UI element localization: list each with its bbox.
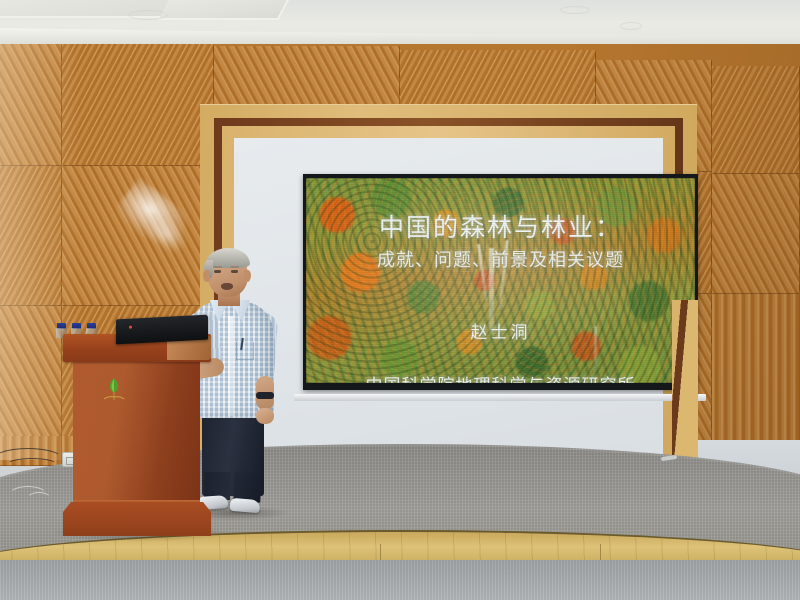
presenter-hand-right bbox=[256, 408, 274, 424]
floor-cable bbox=[26, 492, 52, 508]
presenter-eyebrow-left bbox=[213, 266, 222, 268]
wood-wall-panel bbox=[712, 66, 800, 174]
sprout-leaf-logo-icon bbox=[99, 376, 129, 402]
ceiling-vent-icon bbox=[560, 6, 590, 14]
shirt-placket bbox=[228, 316, 233, 416]
presenter-eye-left bbox=[214, 270, 221, 273]
presenter-ear-right bbox=[244, 270, 251, 282]
lectern[interactable] bbox=[63, 334, 211, 536]
wood-wall-panel bbox=[62, 44, 214, 166]
ceiling-light-icon bbox=[128, 10, 168, 20]
wrist-watch bbox=[256, 392, 274, 399]
shirt-pocket bbox=[236, 342, 254, 360]
ceiling-tile bbox=[158, 0, 290, 20]
projection-screen[interactable]: 中国的森林与林业： 成就、问题、前景及相关议题 赵士洞 中国科学院地理科学与资源… bbox=[303, 174, 698, 390]
presenter-ear-left bbox=[203, 270, 210, 282]
wood-wall-panel bbox=[712, 174, 800, 294]
projection-screen-surface: 中国的森林与林业： 成就、问题、前景及相关议题 赵士洞 中国科学院地理科学与资源… bbox=[234, 138, 663, 474]
floor-cable bbox=[6, 458, 58, 472]
screen-frame-dark-inlay: 中国的森林与林业： 成就、问题、前景及相关议题 赵士洞 中国科学院地理科学与资源… bbox=[214, 118, 683, 474]
screen-frame-inner-trim: 中国的森林与林业： 成就、问题、前景及相关议题 赵士洞 中国科学院地理科学与资源… bbox=[222, 126, 675, 474]
conference-hall-scene: 中国的森林与林业： 成就、问题、前景及相关议题 赵士洞 中国科学院地理科学与资源… bbox=[0, 0, 800, 600]
laptop-computer[interactable] bbox=[116, 315, 208, 345]
presenter-shoe-right bbox=[229, 498, 260, 514]
presenter-mouth bbox=[221, 283, 233, 290]
presenter-eye-right bbox=[231, 270, 238, 273]
ceiling-vent-icon bbox=[620, 22, 642, 30]
projected-slide[interactable]: 中国的森林与林业： 成就、问题、前景及相关议题 赵士洞 中国科学院地理科学与资源… bbox=[306, 178, 695, 383]
lectern-base bbox=[63, 502, 211, 536]
lectern-body bbox=[73, 360, 200, 508]
screen-bottom-tray bbox=[294, 394, 706, 401]
presenter-eyebrow-right bbox=[230, 266, 239, 268]
laptop-logo-icon bbox=[129, 326, 132, 329]
projector-scanlines bbox=[306, 178, 695, 383]
hall-floor bbox=[0, 560, 800, 600]
screen-frame-right-post bbox=[672, 300, 698, 458]
